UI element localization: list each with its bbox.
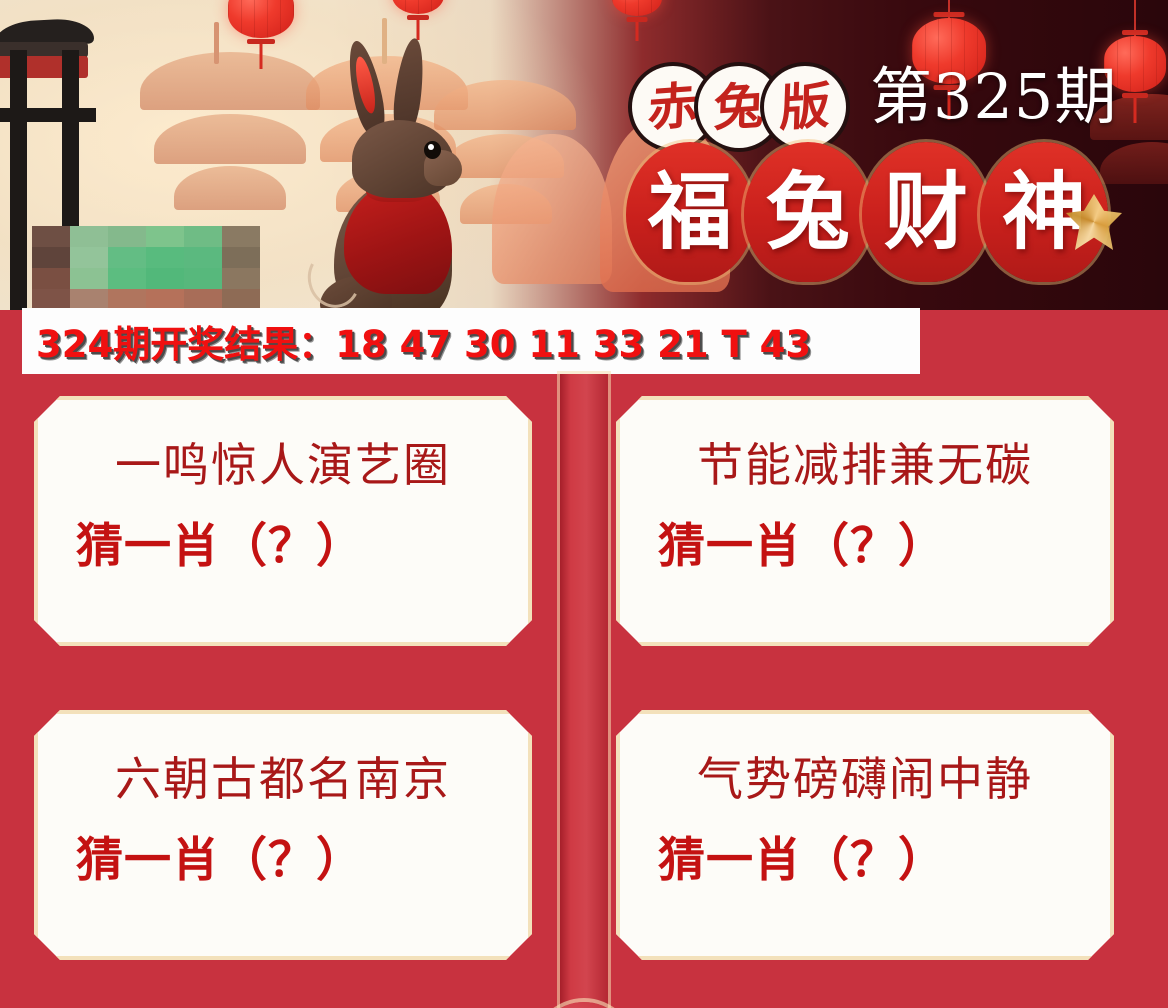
riddle-guess-label: 猜一肖（？）: [620, 521, 1110, 573]
mosaic-cell: [108, 226, 146, 247]
riddle-text: 一鸣惊人演艺圈: [38, 440, 528, 491]
mosaic-cell: [184, 289, 222, 310]
riddle-card[interactable]: 气势磅礴闹中静 猜一肖（？）: [616, 710, 1114, 960]
riddle-grid: 一鸣惊人演艺圈 猜一肖（？） 节能减排兼无碳 猜一肖（？） 六朝古都名南京 猜一…: [0, 374, 1168, 1008]
title-char: 福: [626, 142, 754, 282]
edition-badge: 赤兔版: [632, 66, 830, 148]
mosaic-cell: [70, 289, 108, 310]
ribbon-vertical: [560, 374, 608, 1008]
ribbon-knot-icon: [536, 1002, 632, 1008]
issue-number: 第325期: [870, 66, 1117, 128]
riddle-card[interactable]: 一鸣惊人演艺圈 猜一肖（？）: [34, 396, 532, 646]
mosaic-cell: [222, 226, 260, 247]
mosaic-cell: [70, 268, 108, 289]
rabbit-icon: [300, 40, 490, 310]
riddle-text: 节能减排兼无碳: [620, 440, 1110, 491]
lantern-icon: [612, 0, 662, 16]
title-char: 财: [862, 142, 990, 282]
mosaic-cell: [146, 226, 184, 247]
riddle-guess-label: 猜一肖（？）: [38, 835, 528, 887]
lantern-icon: [392, 0, 444, 14]
mosaic-cell: [184, 268, 222, 289]
mosaic-cell: [184, 247, 222, 268]
mosaic-cell: [108, 268, 146, 289]
mosaic-cell: [108, 247, 146, 268]
mosaic-cell: [184, 226, 222, 247]
mosaic-cell: [222, 247, 260, 268]
title-lockup: 赤兔版 第325期 福兔财神: [632, 18, 1132, 298]
header-banner: 赤兔版 第325期 福兔财神: [0, 0, 1168, 310]
riddle-guess-label: 猜一肖（？）: [38, 521, 528, 573]
mosaic-cell: [146, 289, 184, 310]
lottery-result-text: 324期开奖结果：18 47 30 11 33 21 T 43: [36, 314, 811, 368]
mosaic-cell: [32, 268, 70, 289]
mosaic-block: [32, 226, 260, 310]
mosaic-cell: [70, 226, 108, 247]
lantern-icon: [228, 0, 294, 38]
mosaic-cell: [222, 289, 260, 310]
mosaic-cell: [108, 289, 146, 310]
mosaic-cell: [146, 268, 184, 289]
edition-badge-char: 版: [764, 66, 846, 148]
title-char: 兔: [744, 142, 872, 282]
lottery-result-bar: 324期开奖结果：18 47 30 11 33 21 T 43: [22, 308, 920, 374]
riddle-guess-label: 猜一肖（？）: [620, 835, 1110, 887]
mosaic-cell: [32, 226, 70, 247]
riddle-card[interactable]: 六朝古都名南京 猜一肖（？）: [34, 710, 532, 960]
mosaic-cell: [32, 289, 70, 310]
riddle-card[interactable]: 节能减排兼无碳 猜一肖（？）: [616, 396, 1114, 646]
mosaic-cell: [146, 247, 184, 268]
riddle-text: 气势磅礴闹中静: [620, 754, 1110, 805]
mosaic-cell: [222, 268, 260, 289]
mosaic-cell: [70, 247, 108, 268]
poster-root: 赤兔版 第325期 福兔财神 324期开奖结果：18 47 30 11 33 2…: [0, 0, 1168, 1008]
mosaic-cell: [32, 247, 70, 268]
riddle-text: 六朝古都名南京: [38, 754, 528, 805]
poster-title: 福兔财神: [626, 142, 1126, 294]
